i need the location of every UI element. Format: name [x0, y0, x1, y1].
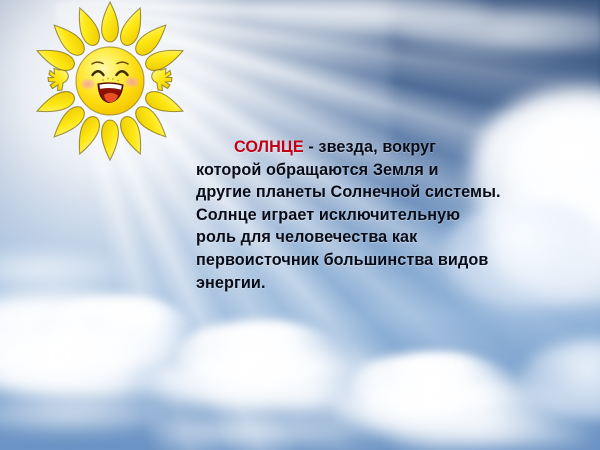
body-line-6: первоисточник большинства видов	[196, 249, 568, 272]
slide-body-text: СОЛНЦЕ - звезда, вокруг которой обращают…	[196, 136, 568, 294]
sun-cheek-left	[80, 78, 96, 90]
keyword-solnce: СОЛНЦЕ	[234, 138, 304, 156]
sun-illustration	[20, 0, 200, 162]
cloud-wisp-lower-right	[390, 418, 590, 450]
presentation-slide: СОЛНЦЕ - звезда, вокруг которой обращают…	[0, 0, 600, 450]
sun-cheek-right	[124, 76, 140, 88]
body-line-4: Солнце играет исключительную	[196, 204, 568, 227]
body-line-5: роль для человечества как	[196, 226, 568, 249]
sun-ray	[102, 120, 119, 160]
sun-hand-right	[152, 69, 172, 91]
body-line-1-rest: - звезда, вокруг	[304, 138, 436, 156]
body-line-2: которой обращаются Земля и	[196, 159, 568, 182]
sun-ray	[102, 2, 119, 42]
cloud-wisp-lower-mid	[150, 414, 360, 448]
sun-hand-left	[48, 69, 68, 91]
body-line-1: СОЛНЦЕ - звезда, вокруг	[196, 136, 568, 159]
body-line-3: другие планеты Солнечной системы.	[196, 181, 568, 204]
body-line-7: энергии.	[196, 272, 568, 295]
